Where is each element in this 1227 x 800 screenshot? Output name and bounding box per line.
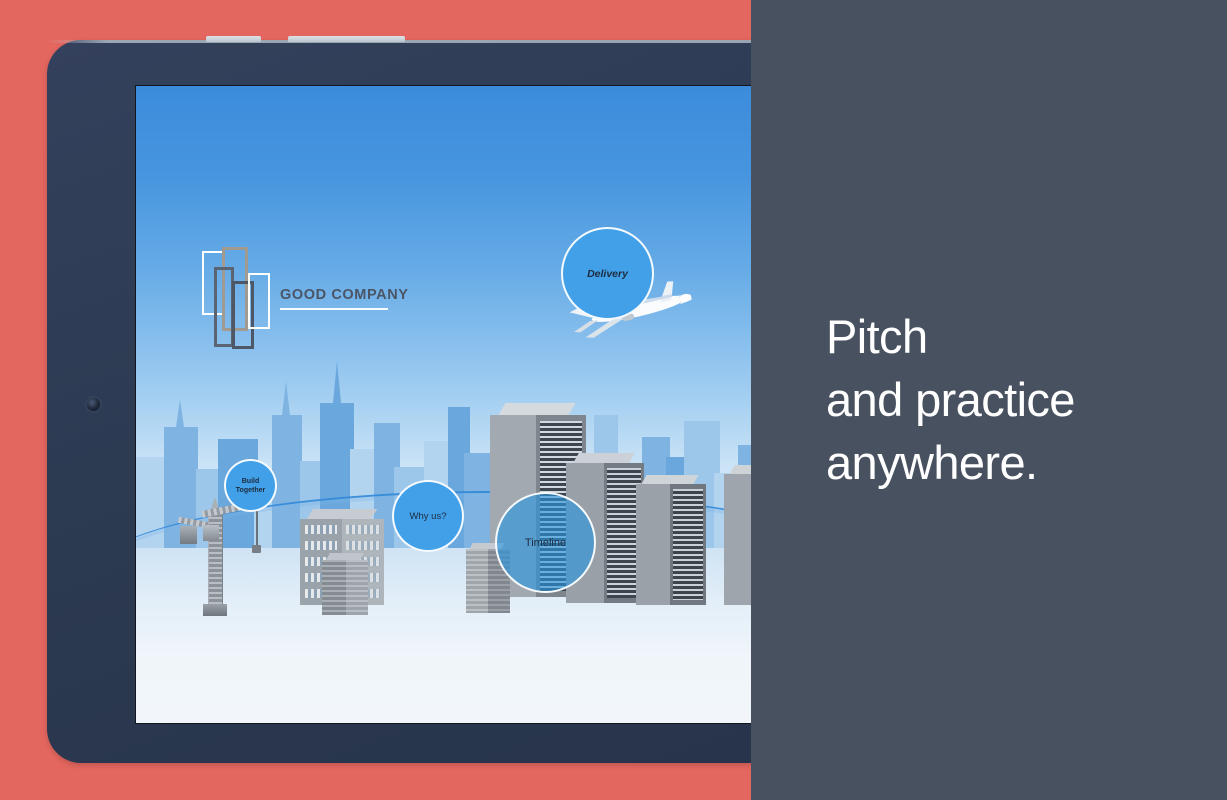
device-top-edge-highlight bbox=[47, 40, 807, 43]
bubble-build-together[interactable]: Build Together bbox=[224, 459, 277, 512]
bubble-why-us[interactable]: Why us? bbox=[392, 480, 464, 552]
company-logo: GOOD COMPANY bbox=[202, 251, 442, 351]
headline-line-2: and practice bbox=[826, 368, 1216, 431]
bubble-why-us-label: Why us? bbox=[410, 511, 447, 522]
front-camera-icon bbox=[87, 398, 100, 411]
headline-line-1: Pitch bbox=[826, 305, 1216, 368]
tablet-device: GOOD COMPANY Delivery Build Together Why… bbox=[47, 40, 807, 763]
bubble-delivery-label: Delivery bbox=[587, 268, 628, 280]
office-building-right-tall bbox=[636, 475, 706, 605]
marketing-headline: Pitch and practice anywhere. bbox=[826, 305, 1216, 494]
bubble-delivery[interactable]: Delivery bbox=[561, 227, 654, 320]
headline-line-3: anywhere. bbox=[826, 431, 1216, 494]
bubble-build-together-label: Build Together bbox=[236, 477, 265, 495]
volume-button[interactable] bbox=[206, 36, 261, 42]
power-button[interactable] bbox=[288, 36, 405, 42]
construction-crane-icon bbox=[176, 495, 266, 610]
company-logo-text: GOOD COMPANY bbox=[280, 287, 409, 303]
bubble-timeline[interactable]: Timeline bbox=[495, 492, 596, 593]
company-logo-underline bbox=[280, 308, 388, 310]
screenshot-canvas: GOOD COMPANY Delivery Build Together Why… bbox=[0, 0, 1227, 800]
office-building-small-left bbox=[322, 553, 368, 615]
bubble-timeline-label: Timeline bbox=[525, 537, 566, 549]
marketing-panel: Pitch and practice anywhere. bbox=[751, 0, 1227, 800]
tablet-screen[interactable]: GOOD COMPANY Delivery Build Together Why… bbox=[136, 86, 836, 723]
